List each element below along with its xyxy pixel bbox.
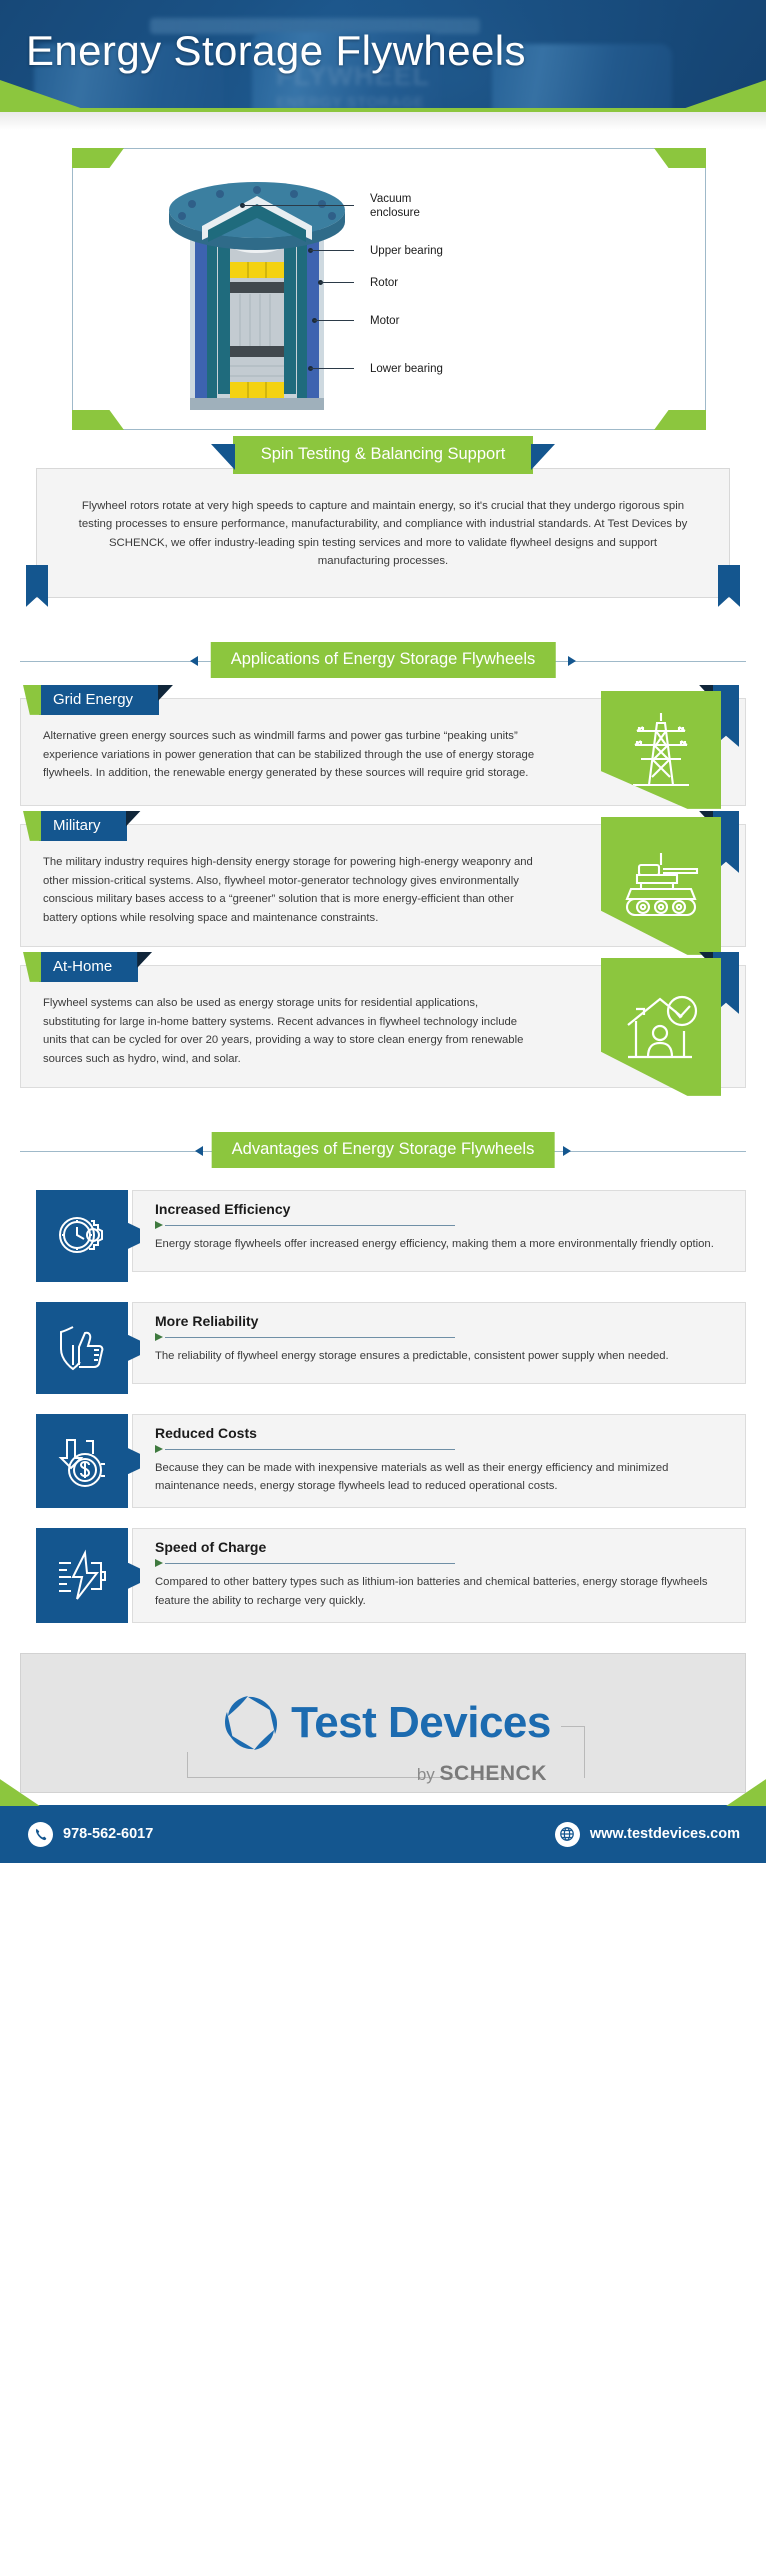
header-green-rule: [0, 108, 766, 112]
advantage-arrow-icon: [155, 1445, 163, 1453]
leader-line-lower-bearing: [310, 368, 354, 369]
applications-section-title: Applications of Energy Storage Flywheels: [211, 642, 556, 678]
advantages-arrow-right-icon: [563, 1146, 571, 1156]
globe-icon: [555, 1822, 580, 1847]
leader-line-vacuum: [242, 205, 354, 206]
advantage-underline: [155, 1333, 455, 1341]
byline-prefix: by: [417, 1765, 435, 1784]
applications-arrow-left-icon: [190, 656, 198, 666]
page-footer: 978-562-6017 www.testdevices.com: [0, 1805, 766, 1863]
applications-section-header: Applications of Energy Storage Flywheels: [20, 642, 746, 680]
leader-line-rotor: [320, 282, 354, 283]
advantage-text-increased-efficiency: Energy storage flywheels offer increased…: [155, 1235, 723, 1253]
dollar-down-arrow-icon: [36, 1414, 128, 1509]
flywheel-cutaway-icon: [162, 170, 352, 420]
footer-website[interactable]: www.testdevices.com: [555, 1822, 740, 1847]
advantage-body-increased-efficiency: Increased Efficiency Energy storage flyw…: [132, 1190, 746, 1272]
advantage-arrow-icon: [155, 1559, 163, 1567]
advantage-row-reduced-costs: Reduced Costs Because they can be made w…: [20, 1414, 746, 1509]
diagram-label-rotor: Rotor: [370, 276, 398, 290]
diagram-label-vacuum-enclosure: Vacuum enclosure: [370, 192, 460, 221]
brand-logo: Test Devices by SCHENCK: [215, 1690, 551, 1756]
diagram-labels: Vacuum enclosure Upper bearing Rotor Mot…: [370, 170, 630, 420]
advantage-title-more-reliability: More Reliability: [155, 1313, 723, 1329]
advantage-text-more-reliability: The reliability of flywheel energy stora…: [155, 1347, 723, 1365]
leader-line-motor: [314, 320, 354, 321]
spin-testing-body: Flywheel rotors rotate at very high spee…: [36, 468, 730, 598]
advantage-underline: [155, 1559, 455, 1567]
advantage-line: [165, 1449, 455, 1450]
header-dropshadow: [0, 112, 766, 130]
advantage-row-more-reliability: More Reliability The reliability of flyw…: [20, 1302, 746, 1394]
diagram-label-lower-bearing: Lower bearing: [370, 362, 443, 376]
page-title: Energy Storage Flywheels: [0, 0, 766, 75]
phone-icon: [28, 1822, 53, 1847]
advantage-row-increased-efficiency: Increased Efficiency Energy storage flyw…: [20, 1190, 746, 1282]
flywheel-iris-logo-icon: [215, 1690, 281, 1756]
advantage-line: [165, 1337, 455, 1338]
application-card-military: Military The military industry requires …: [20, 824, 746, 947]
advantage-title-reduced-costs: Reduced Costs: [155, 1425, 723, 1441]
advantage-underline: [155, 1445, 455, 1453]
application-title-military: Military: [53, 817, 101, 834]
thumbs-up-shield-icon: [36, 1302, 128, 1394]
advantage-body-more-reliability: More Reliability The reliability of flyw…: [132, 1302, 746, 1384]
advantage-text-speed-of-charge: Compared to other battery types such as …: [155, 1573, 723, 1610]
application-title-grid-energy: Grid Energy: [53, 691, 133, 708]
application-title-at-home: At-Home: [53, 958, 112, 975]
flywheel-diagram-section: Vacuum enclosure Upper bearing Rotor Mot…: [20, 140, 746, 436]
spin-testing-banner: Spin Testing & Balancing Support: [233, 436, 533, 474]
advantage-body-speed-of-charge: Speed of Charge Compared to other batter…: [132, 1528, 746, 1623]
advantage-line: [165, 1563, 455, 1564]
advantage-row-speed-of-charge: Speed of Charge Compared to other batter…: [20, 1528, 746, 1623]
advantage-title-speed-of-charge: Speed of Charge: [155, 1539, 723, 1555]
diagram-label-motor: Motor: [370, 314, 399, 328]
page-header: FLYWHEEL ENERGY STORAGE Energy Storage F…: [0, 0, 766, 112]
applications-arrow-right-icon: [568, 656, 576, 666]
footer-phone-text: 978-562-6017: [63, 1826, 153, 1842]
advantages-section-header: Advantages of Energy Storage Flywheels: [20, 1132, 746, 1170]
application-tab-at-home: At-Home: [39, 952, 138, 982]
footer-phone[interactable]: 978-562-6017: [28, 1822, 153, 1847]
footer-website-text: www.testdevices.com: [590, 1826, 740, 1842]
advantage-underline: [155, 1221, 455, 1229]
spin-testing-section: Spin Testing & Balancing Support Flywhee…: [20, 436, 746, 598]
battery-bolt-icon: [36, 1528, 128, 1623]
brand-name: Test Devices: [291, 1698, 551, 1748]
advantage-arrow-icon: [155, 1333, 163, 1341]
advantages-section-title: Advantages of Energy Storage Flywheels: [212, 1132, 555, 1168]
byline-brand: SCHENCK: [440, 1762, 547, 1785]
advantage-line: [165, 1225, 455, 1226]
application-card-grid-energy: Grid Energy Alternative green energy sou…: [20, 698, 746, 806]
application-tab-military: Military: [39, 811, 127, 841]
leader-line-upper-bearing: [310, 250, 354, 251]
advantage-arrow-icon: [155, 1221, 163, 1229]
advantage-text-reduced-costs: Because they can be made with inexpensiv…: [155, 1459, 723, 1496]
brand-logo-area: Test Devices by SCHENCK: [20, 1653, 746, 1793]
application-tab-grid-energy: Grid Energy: [39, 685, 159, 715]
gear-clock-icon: [36, 1190, 128, 1282]
brand-byline: by SCHENCK: [417, 1762, 547, 1786]
advantages-arrow-left-icon: [195, 1146, 203, 1156]
advantage-body-reduced-costs: Reduced Costs Because they can be made w…: [132, 1414, 746, 1509]
application-card-at-home: At-Home Flywheel systems can also be use…: [20, 965, 746, 1088]
advantage-title-increased-efficiency: Increased Efficiency: [155, 1201, 723, 1217]
logo-bracket-right: [561, 1726, 585, 1778]
diagram-label-upper-bearing: Upper bearing: [370, 244, 443, 258]
